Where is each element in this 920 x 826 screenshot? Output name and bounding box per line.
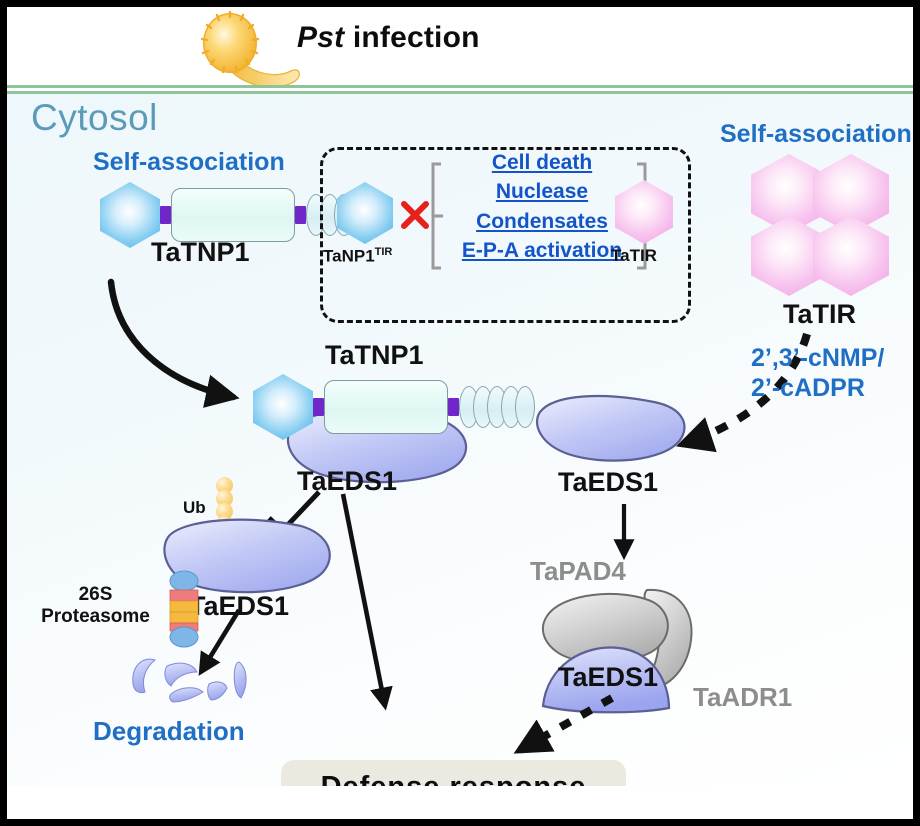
- nbarc-domain-icon: [324, 380, 448, 434]
- right-self-association-label: Self-association: [720, 120, 912, 149]
- nbarc-domain-icon: [171, 188, 295, 242]
- domain-linker-icon: [448, 398, 459, 416]
- tatir-label-inset: TaTIR: [611, 246, 657, 266]
- tanp1-tir-label: TaNP1TIR: [323, 246, 392, 267]
- proteasome-line-1: 26S: [33, 584, 158, 606]
- signal-molecule-label: 2’,3’-cNMP/ 2’-cADPR: [751, 344, 884, 403]
- domain-linker-icon: [313, 398, 324, 416]
- bottom-margin: [7, 786, 913, 819]
- domain-linker-icon: [295, 206, 306, 224]
- function-item-cell-death: Cell death: [444, 152, 640, 174]
- tatir-label-right: TaTIR: [783, 299, 856, 330]
- tanp1-tir-hexagon: [337, 182, 393, 244]
- proteasome-label: 26S Proteasome: [33, 584, 158, 628]
- tatir-tetramer: [751, 154, 901, 300]
- tir-superscript: TIR: [375, 246, 393, 258]
- tir-domain-icon: [253, 374, 313, 440]
- left-self-association-label: Self-association: [93, 148, 285, 177]
- plasma-membrane: [7, 85, 913, 94]
- taeds1-label-complex: TaEDS1: [558, 662, 658, 693]
- spore-icon: [199, 13, 311, 91]
- degradation-label: Degradation: [93, 716, 245, 747]
- signal-line-1: 2’,3’-cNMP/: [751, 344, 884, 374]
- tatnp1-label-complex: TaTNP1: [325, 340, 424, 371]
- tatir-hexagon-inset: [615, 180, 673, 244]
- cross-icon: [400, 200, 430, 230]
- pathway-figure: Pst infection Cytosol Self-association T…: [0, 0, 920, 826]
- function-item-condensates: Condensates: [444, 211, 640, 233]
- function-item-nuclease: Nuclease: [444, 181, 640, 203]
- tatnp1-protein-complex: [253, 374, 535, 440]
- proteasome-line-2: Proteasome: [33, 606, 158, 628]
- lrr-domain-icon: [459, 386, 535, 428]
- domain-linker-icon: [160, 206, 171, 224]
- arrow-center-to-defense: [337, 492, 427, 727]
- taadr1-label: TaADR1: [693, 682, 792, 713]
- infection-text: infection: [344, 21, 479, 54]
- signal-line-2: 2’-cADPR: [751, 374, 884, 404]
- degraded-fragments-icon: [127, 654, 257, 716]
- taeds1-right-shape: [534, 392, 694, 470]
- apoplast-region: Pst infection: [7, 7, 913, 85]
- cytosol-region: Cytosol Self-association TaTNP1: [7, 94, 913, 786]
- taeds1-label-right: TaEDS1: [558, 467, 658, 498]
- cytosol-label: Cytosol: [31, 97, 158, 139]
- page-title: Pst infection: [297, 21, 480, 55]
- pathogen-name-italic: Pst: [297, 21, 344, 54]
- ubiquitin-label: Ub: [183, 498, 206, 518]
